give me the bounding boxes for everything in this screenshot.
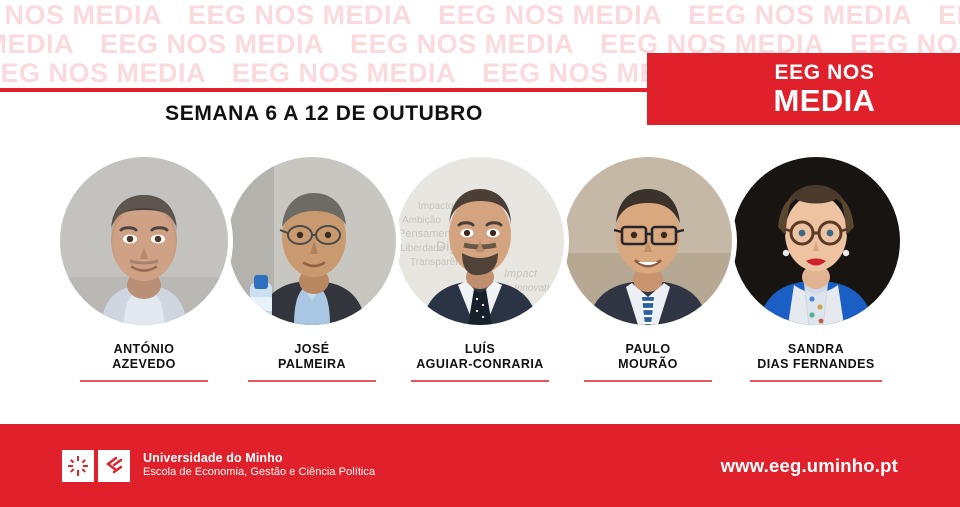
speaker-underline <box>80 380 208 382</box>
avatar <box>732 157 900 325</box>
speaker-first-name: SANDRA <box>788 342 844 356</box>
speaker-first-name: PAULO <box>625 342 670 356</box>
speaker-name: SANDRA DIAS FERNANDES <box>757 342 874 373</box>
website-url[interactable]: www.eeg.uminho.pt <box>721 455 898 477</box>
svg-text:Impacto: Impacto <box>418 201 454 212</box>
speaker-name: ANTÓNIO AZEVEDO <box>112 342 176 373</box>
speaker-first-name: ANTÓNIO <box>114 342 175 356</box>
institution-block: Universidade do Minho Escola de Economia… <box>62 450 375 482</box>
speaker-last-name: AZEVEDO <box>112 357 176 372</box>
logo-marks <box>62 450 130 482</box>
speaker-underline <box>750 380 882 382</box>
avatar <box>60 157 228 325</box>
speaker-underline <box>248 380 376 382</box>
avatar-ring <box>55 152 233 330</box>
avatar-ring: Impacto Ambição Pensamento Liberdade Dig… <box>391 152 569 330</box>
avatar-ring <box>727 152 905 330</box>
footer-bar: Universidade do Minho Escola de Economia… <box>0 424 960 507</box>
speakers-row: ANTÓNIO AZEVEDO <box>0 152 960 414</box>
avatar <box>228 157 396 325</box>
speaker-last-name: AGUIAR-CONRARIA <box>416 357 544 372</box>
speaker-last-name: DIAS FERNANDES <box>757 357 874 372</box>
avatar-ring <box>559 152 737 330</box>
portrait-paulo-mourao <box>564 157 732 325</box>
speaker-card: PAULO MOURÃO <box>562 152 734 382</box>
speaker-last-name: MOURÃO <box>618 357 678 372</box>
portrait-luis-aguiar-conraria: Impacto Ambição Pensamento Liberdade Dig… <box>396 157 564 325</box>
speaker-name: LUÍS AGUIAR-CONRARIA <box>416 342 544 373</box>
portrait-jose-palmeira <box>228 157 396 325</box>
speaker-name: PAULO MOURÃO <box>618 342 678 373</box>
school-name: Escola de Economia, Gestão e Ciência Pol… <box>143 466 375 480</box>
speaker-card: SANDRA DIAS FERNANDES <box>730 152 902 382</box>
svg-text:Ambição: Ambição <box>402 215 441 226</box>
speaker-last-name: PALMEIRA <box>278 357 346 372</box>
eeg-nos-media-logo: EEG NOS MEDIA <box>647 53 960 125</box>
portrait-antonio-azevedo <box>60 157 228 325</box>
avatar: Impacto Ambição Pensamento Liberdade Dig… <box>396 157 564 325</box>
speaker-card: Impacto Ambição Pensamento Liberdade Dig… <box>394 152 566 382</box>
speaker-underline <box>584 380 712 382</box>
speaker-card: JOSÉ PALMEIRA <box>226 152 398 382</box>
poster-root: EEG NOS MEDIAEEG NOS MEDIAEEG NOS MEDIAE… <box>0 0 960 507</box>
speaker-card: ANTÓNIO AZEVEDO <box>58 152 230 382</box>
logo-line-1: EEG NOS <box>775 62 875 84</box>
svg-text:Impact: Impact <box>504 268 538 280</box>
page-title: SEMANA 6 A 12 DE OUTUBRO <box>165 102 483 126</box>
speaker-name: JOSÉ PALMEIRA <box>278 342 346 373</box>
speaker-underline <box>411 380 549 382</box>
avatar-ring <box>223 152 401 330</box>
university-name: Universidade do Minho <box>143 451 375 467</box>
speaker-first-name: LUÍS <box>465 342 495 356</box>
avatar <box>564 157 732 325</box>
uminho-starburst-icon <box>62 450 94 482</box>
eeg-chevron-icon <box>98 450 130 482</box>
title-bar: SEMANA 6 A 12 DE OUTUBRO <box>0 92 648 136</box>
logo-line-2: MEDIA <box>774 85 876 116</box>
institution-text: Universidade do Minho Escola de Economia… <box>143 451 375 480</box>
watermark-row: EEG NOS MEDIAEEG NOS MEDIAEEG NOS MEDIAE… <box>0 2 960 29</box>
speaker-first-name: JOSÉ <box>294 342 329 356</box>
portrait-sandra-dias-fernandes <box>732 157 900 325</box>
